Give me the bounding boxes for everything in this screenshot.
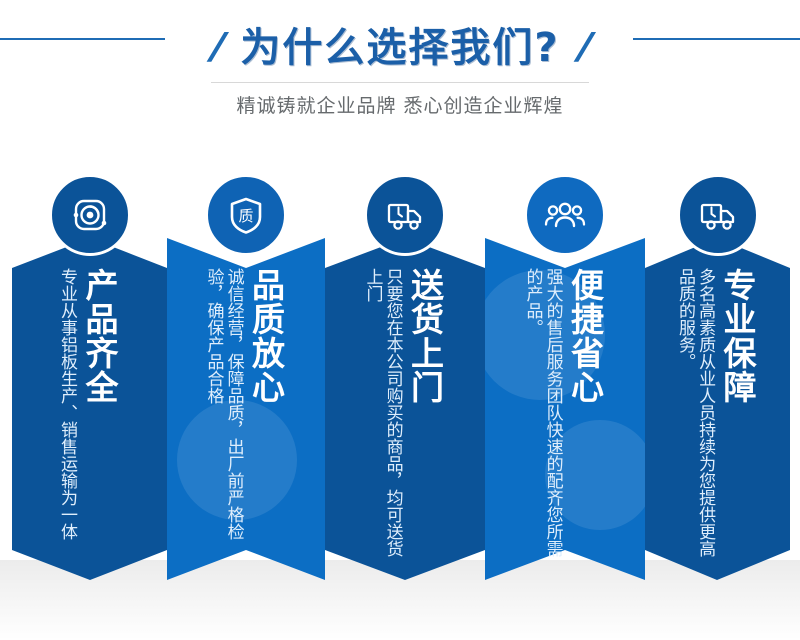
feature-panel-5[interactable]: 专业保障 多名高素质从业人员持续为您提供更高品质的服务。 (645, 150, 790, 600)
panel-5-icon-badge (677, 174, 759, 256)
feature-panel-1[interactable]: 产品齐全 专业从事铝板生产、销售运输为一体 (12, 150, 167, 600)
panel-3-desc: 只要您在本公司购买的商品，均可送货上门 (362, 268, 402, 568)
panel-2-text: 品质放心 诚信经营，保障品质，出厂前严格检验，确保产品合格 (167, 268, 325, 598)
product-lens-icon (68, 193, 112, 237)
panel-4-icon-badge (524, 174, 606, 256)
panel-1-desc: 专业从事铝板生产、销售运输为一体 (57, 268, 77, 568)
header-title-row: / 为什么选择我们? / (0, 18, 800, 78)
page-subtitle: 精诚铸就企业品牌 悉心创造企业辉煌 (0, 91, 800, 118)
panel-2-icon-badge: 质 (205, 174, 287, 256)
header-subtitle-wrap: 精诚铸就企业品牌 悉心创造企业辉煌 (0, 82, 800, 118)
feature-ribbon: 产品齐全 专业从事铝板生产、销售运输为一体 质 品质放心 诚信经营，保障品质，出… (0, 150, 800, 600)
panel-5-title: 专业保障 (719, 268, 754, 558)
panel-3-text: 送货上门 只要您在本公司购买的商品，均可送货上门 (325, 268, 485, 598)
delivery-truck-icon (696, 193, 740, 237)
panel-1-title: 产品齐全 (81, 268, 116, 558)
panel-1-text: 产品齐全 专业从事铝板生产、销售运输为一体 (12, 268, 167, 598)
page-title: 为什么选择我们? (224, 28, 575, 68)
panel-2-title: 品质放心 (248, 268, 283, 558)
panel-5-text: 专业保障 多名高素质从业人员持续为您提供更高品质的服务。 (645, 268, 790, 598)
subtitle-divider (211, 82, 589, 83)
panel-3-title: 送货上门 (407, 268, 442, 558)
panel-5-desc: 多名高素质从业人员持续为您提供更高品质的服务。 (675, 268, 715, 568)
panel-2-desc: 诚信经营，保障品质，出厂前严格检验，确保产品合格 (203, 268, 243, 568)
svg-text:质: 质 (238, 207, 253, 225)
shield-quality-icon: 质 (224, 193, 268, 237)
team-people-icon (543, 193, 587, 237)
promo-page: / 为什么选择我们? / 精诚铸就企业品牌 悉心创造企业辉煌 (0, 0, 800, 640)
panel-4-desc: 强大的售后服务团队快速的配齐您所需的产品。 (522, 268, 562, 568)
panel-4-title: 便捷省心 (567, 268, 602, 558)
panel-3-icon-badge (364, 174, 446, 256)
panel-1-icon-badge (49, 174, 131, 256)
panel-4-text: 便捷省心 强大的售后服务团队快速的配齐您所需的产品。 (485, 268, 645, 598)
delivery-truck-icon (383, 193, 427, 237)
feature-panel-4[interactable]: 便捷省心 强大的售后服务团队快速的配齐您所需的产品。 (485, 150, 645, 600)
feature-panel-3[interactable]: 送货上门 只要您在本公司购买的商品，均可送货上门 (325, 150, 485, 600)
page-header: / 为什么选择我们? / 精诚铸就企业品牌 悉心创造企业辉煌 (0, 0, 800, 150)
feature-panel-2[interactable]: 质 品质放心 诚信经营，保障品质，出厂前严格检验，确保产品合格 (167, 150, 325, 600)
